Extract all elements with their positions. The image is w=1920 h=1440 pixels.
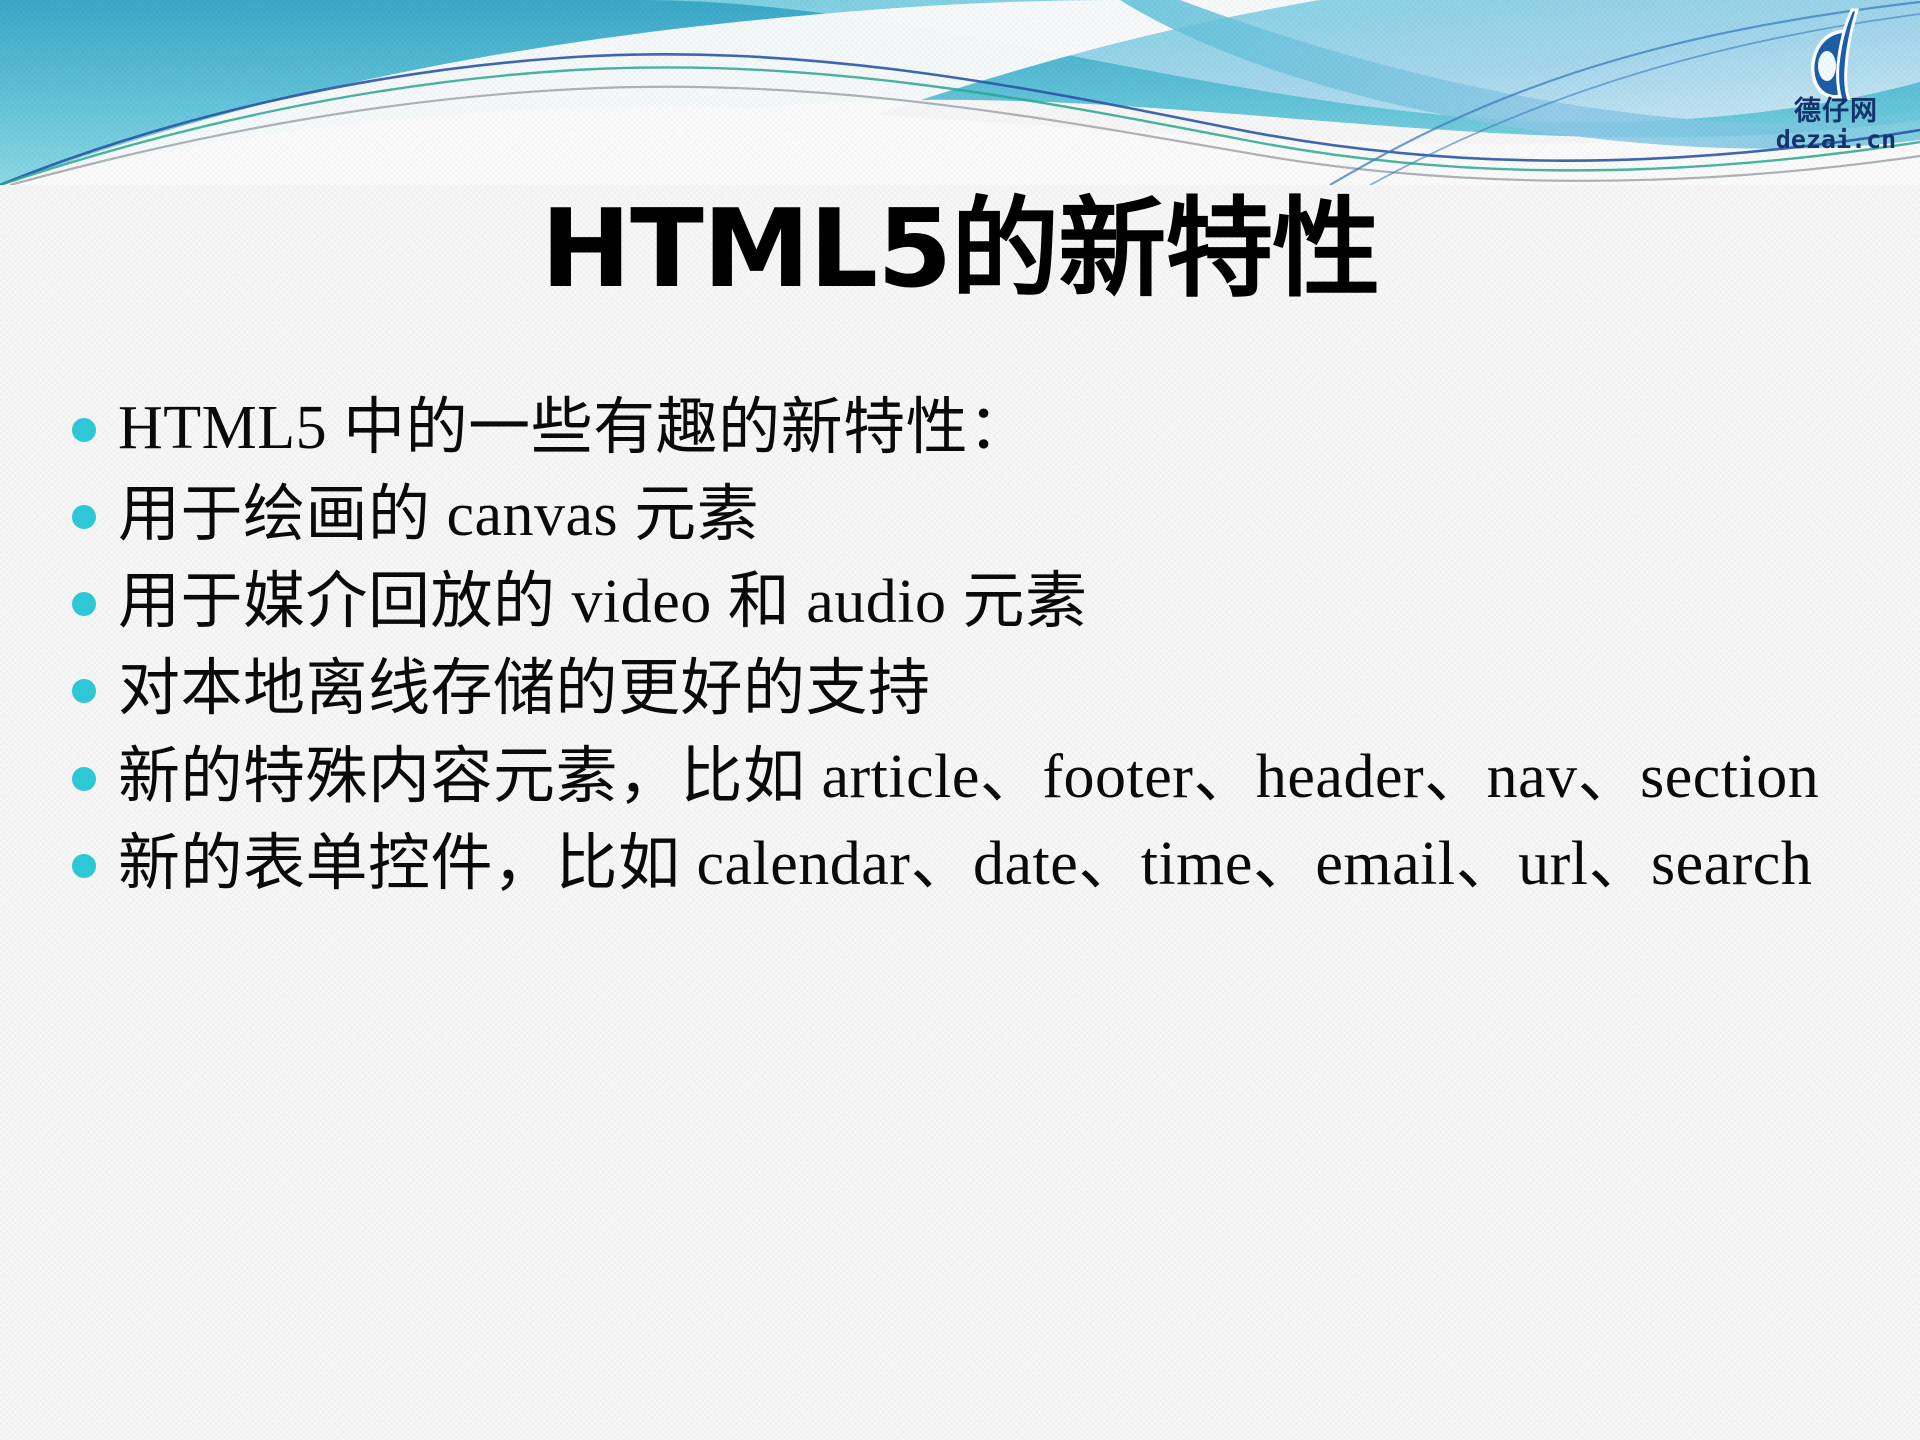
list-item-label: 新的特殊内容元素，比如 article、footer、header、nav、se… — [118, 741, 1872, 814]
list-item-label: 新的表单控件，比如 calendar、date、time、email、url、s… — [118, 828, 1872, 901]
logo-domain: dezai.cn — [1770, 127, 1902, 152]
header-banner-decoration — [0, 0, 1920, 185]
presentation-slide: 德仔网 dezai.cn HTML5的新特性 HTML5 中的一些有趣的新特性：… — [0, 0, 1920, 1440]
list-item-label: 用于绘画的 canvas 元素 — [118, 479, 1872, 552]
logo-chinese-name: 德仔网 — [1770, 98, 1902, 125]
slide-title: HTML5的新特性 — [0, 192, 1920, 309]
list-item-label: 对本地离线存储的更好的支持 — [118, 653, 1872, 726]
bullet-dot-icon — [72, 592, 96, 616]
bullet-dot-icon — [72, 679, 96, 703]
bullet-dot-icon — [72, 505, 96, 529]
list-item: 对本地离线存储的更好的支持 — [72, 653, 1872, 726]
list-item: 新的表单控件，比如 calendar、date、time、email、url、s… — [72, 828, 1872, 901]
site-logo[interactable]: 德仔网 dezai.cn — [1770, 8, 1902, 152]
slide-body-bullet-list: HTML5 中的一些有趣的新特性： 用于绘画的 canvas 元素 用于媒介回放… — [72, 392, 1872, 915]
list-item: 用于绘画的 canvas 元素 — [72, 479, 1872, 552]
list-item-label: HTML5 中的一些有趣的新特性： — [118, 392, 1872, 465]
bullet-dot-icon — [72, 418, 96, 442]
list-item-label: 用于媒介回放的 video 和 audio 元素 — [118, 566, 1872, 639]
list-item: HTML5 中的一些有趣的新特性： — [72, 392, 1872, 465]
list-item: 用于媒介回放的 video 和 audio 元素 — [72, 566, 1872, 639]
stylized-d-logo-icon — [1770, 8, 1902, 100]
bullet-dot-icon — [72, 854, 96, 878]
list-item: 新的特殊内容元素，比如 article、footer、header、nav、se… — [72, 741, 1872, 814]
bullet-dot-icon — [72, 767, 96, 791]
